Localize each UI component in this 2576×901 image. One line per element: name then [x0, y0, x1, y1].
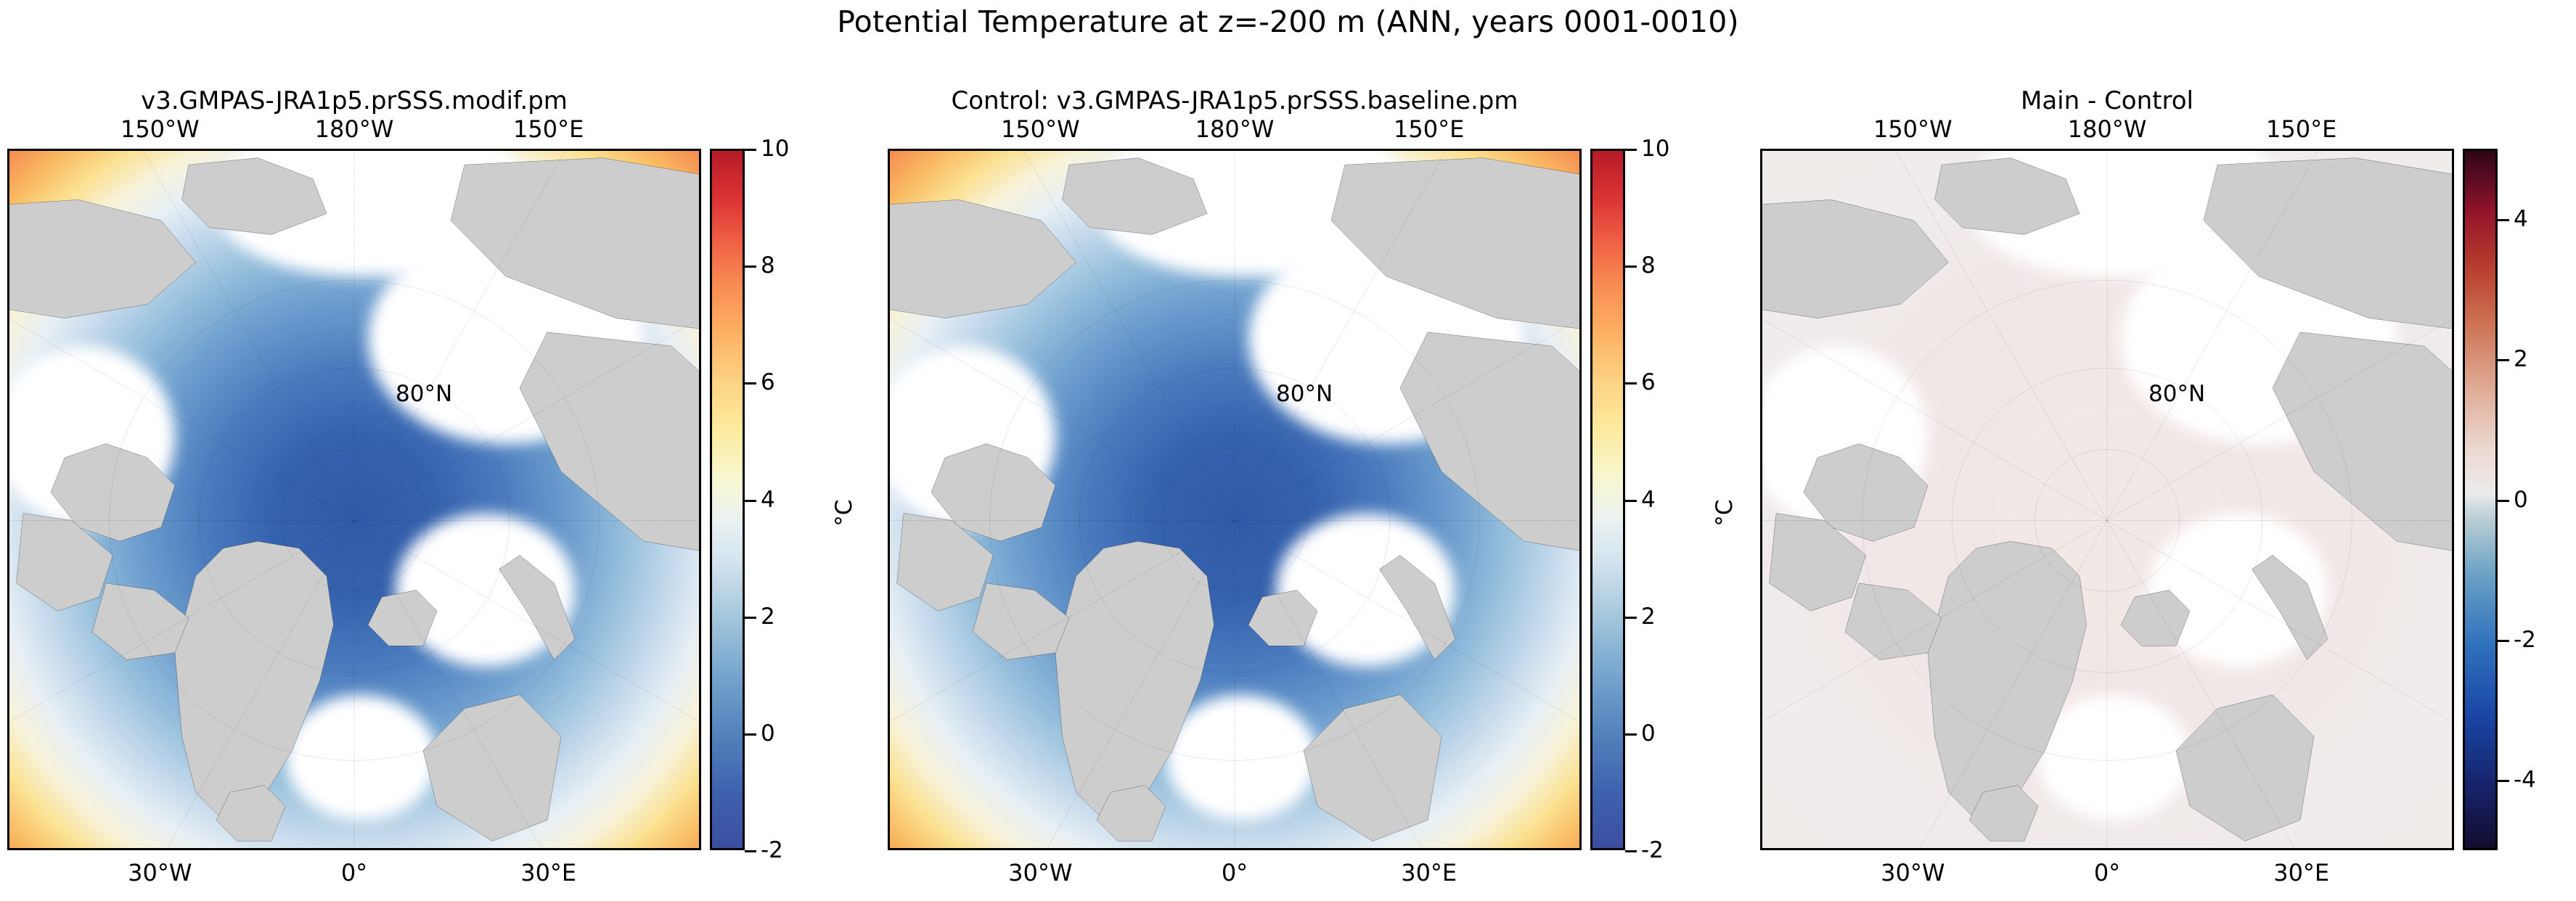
lon-label-bottom-0: 30°W — [1881, 859, 1945, 886]
graticule — [1762, 151, 2452, 848]
colorbar-tick — [745, 500, 756, 502]
colorbar-tick — [745, 266, 756, 268]
colorbar-tick-label: 0 — [761, 720, 775, 746]
lon-label-bottom-0: 30°W — [1008, 859, 1072, 886]
colorbar-control — [1590, 149, 1625, 850]
colorbar-tick — [1625, 850, 1637, 852]
lon-label-top-0: 150°W — [120, 115, 200, 143]
colorbar-tick-label: 2 — [1641, 604, 1656, 630]
colorbar-tick — [2498, 640, 2509, 642]
colorbar-tick — [745, 733, 756, 736]
colorbar-tick — [1625, 733, 1637, 736]
colorbar-tick — [745, 850, 756, 852]
longitude-spoke — [9, 269, 354, 520]
colorbar-tick-label: 6 — [1641, 369, 1656, 395]
longitude-spoke — [1762, 269, 2107, 520]
colorbar-tick — [2498, 500, 2509, 502]
colorbar-tick-label: -2 — [761, 837, 783, 863]
lon-label-top-2: 150°E — [513, 115, 584, 143]
colorbar-tick — [2498, 780, 2509, 782]
colorbar-tick-label: 6 — [761, 369, 775, 395]
map-axes-control[interactable]: 80°N — [888, 149, 1582, 850]
colorbar-tick-label: -2 — [2514, 627, 2536, 653]
colorbar-tick-label: 2 — [761, 604, 775, 630]
colorbar-tick-label: 8 — [761, 252, 775, 279]
colorbar-tick-label: 0 — [2514, 487, 2528, 513]
latitude-label: 80°N — [396, 381, 452, 407]
longitude-spoke — [354, 520, 602, 848]
longitude-spoke — [1235, 520, 1579, 771]
panel-title-main: v3.GMPAS-JRA1p5.prSSS.modif.pm — [7, 86, 701, 115]
colorbar-unit-label: °C — [1712, 499, 1738, 526]
lon-label-bottom-2: 30°E — [1401, 859, 1457, 886]
longitude-spoke — [2107, 520, 2452, 771]
map-axes-main[interactable]: 80°N — [7, 149, 701, 850]
colorbar-tick-label: 8 — [1641, 252, 1656, 279]
lon-label-bottom-2: 30°E — [2273, 859, 2329, 886]
longitude-spoke — [106, 520, 354, 848]
colorbar-tick-label: -4 — [2514, 767, 2536, 793]
longitude-spoke — [890, 520, 1235, 771]
longitude-spoke — [890, 269, 1235, 520]
lon-label-top-0: 150°W — [1001, 115, 1080, 143]
colorbar-tick — [745, 617, 756, 619]
lon-label-bottom-0: 30°W — [128, 859, 192, 886]
colorbar-tick — [1625, 266, 1637, 268]
longitude-spoke — [1235, 520, 1483, 848]
longitude-spoke — [354, 151, 602, 520]
lon-label-bottom-1: 0° — [2094, 859, 2120, 886]
lon-label-top-2: 150°E — [1394, 115, 1464, 143]
colorbar-tick-label: 4 — [761, 487, 775, 513]
colorbar-tick — [1625, 149, 1637, 151]
lon-label-bottom-2: 30°E — [520, 859, 576, 886]
lon-label-top-0: 150°W — [1873, 115, 1953, 143]
longitude-spoke — [986, 520, 1235, 848]
longitude-spoke — [354, 520, 699, 771]
lon-label-bottom-1: 0° — [1222, 859, 1248, 886]
lon-label-top-1: 180°W — [315, 115, 394, 143]
lon-label-top-2: 150°E — [2266, 115, 2336, 143]
colorbar-tick — [2498, 359, 2509, 361]
latitude-label: 80°N — [1276, 381, 1333, 407]
longitude-spoke — [986, 151, 1235, 520]
colorbar-difference — [2463, 149, 2498, 850]
longitude-spoke — [2107, 151, 2355, 520]
panel-title-difference: Main - Control — [1760, 86, 2454, 115]
colorbar-tick-label: 0 — [1641, 720, 1656, 746]
map-panel-main: v3.GMPAS-JRA1p5.prSSS.modif.pm150°W180°W… — [7, 149, 701, 850]
longitude-spoke — [1762, 520, 2107, 771]
colorbar-tick — [2498, 219, 2509, 221]
colorbar-unit-label: °C — [831, 499, 857, 526]
colorbar-tick — [745, 382, 756, 384]
colorbar-tick-label: 10 — [1641, 136, 1669, 162]
longitude-spoke — [1859, 151, 2107, 520]
graticule — [9, 151, 699, 848]
panel-title-control: Control: v3.GMPAS-JRA1p5.prSSS.baseline.… — [888, 86, 1582, 115]
colorbar-tick-label: 2 — [2514, 346, 2528, 372]
graticule — [890, 151, 1579, 848]
colorbar-tick-label: -2 — [1641, 837, 1664, 863]
longitude-spoke — [2107, 520, 2355, 848]
figure-title: Potential Temperature at z=-200 m (ANN, … — [0, 4, 2576, 39]
longitude-spoke — [106, 151, 354, 520]
map-axes-difference[interactable]: 80°N — [1760, 149, 2454, 850]
colorbar-tick-label: 4 — [2514, 206, 2528, 232]
colorbar-tick — [1625, 382, 1637, 384]
longitude-spoke — [1235, 151, 1483, 520]
lon-label-top-1: 180°W — [1195, 115, 1275, 143]
colorbar-tick — [1625, 617, 1637, 619]
colorbar-tick — [745, 149, 756, 151]
longitude-spoke — [9, 520, 354, 771]
longitude-spoke — [1859, 520, 2107, 848]
colorbar-tick-label: 10 — [761, 136, 789, 162]
latitude-label: 80°N — [2148, 381, 2205, 407]
map-panel-control: Control: v3.GMPAS-JRA1p5.prSSS.baseline.… — [888, 149, 1582, 850]
map-panel-difference: Main - Control150°W180°W150°E30°W0°30°E8… — [1760, 149, 2454, 850]
colorbar-main — [710, 149, 745, 850]
colorbar-tick — [1625, 500, 1637, 502]
lon-label-bottom-1: 0° — [341, 859, 367, 886]
colorbar-tick-label: 4 — [1641, 487, 1656, 513]
lon-label-top-1: 180°W — [2068, 115, 2147, 143]
